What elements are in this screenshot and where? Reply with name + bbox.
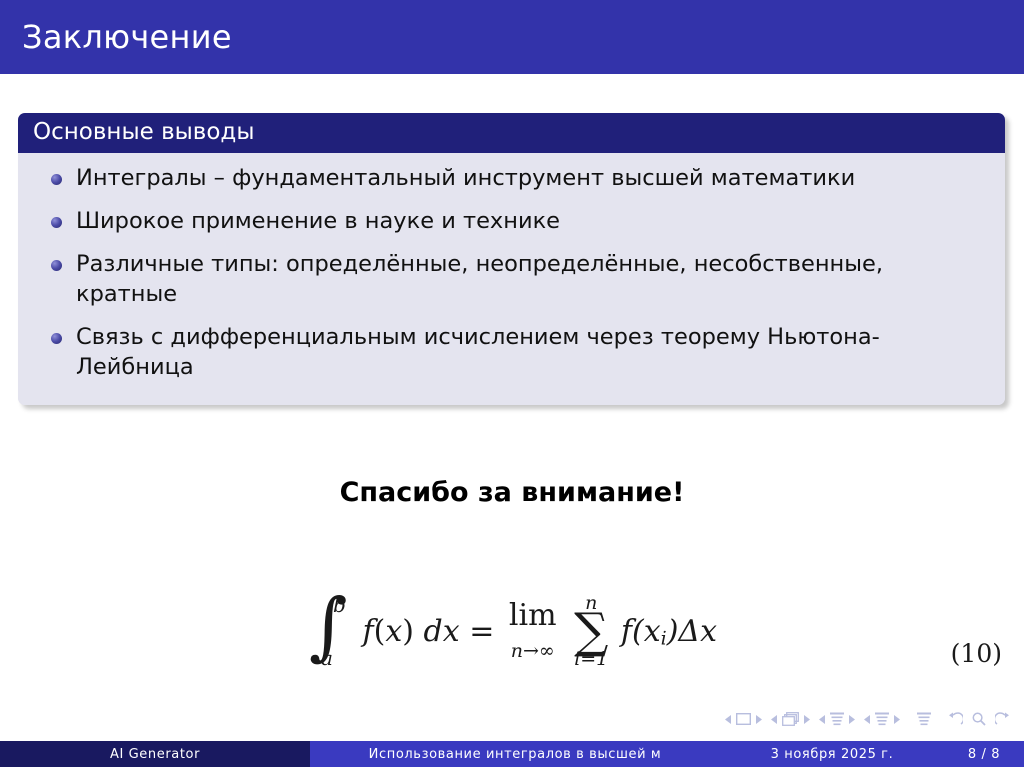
section-icon[interactable]	[875, 712, 889, 726]
limit-subscript: n→∞	[511, 640, 555, 662]
block-title: Основные выводы	[18, 113, 1005, 153]
list-item: Различные типы: определённые, неопределё…	[40, 250, 983, 310]
equation-number: (10)	[951, 639, 1002, 668]
slide-next-icon[interactable]	[755, 715, 762, 724]
bullet-dot-icon	[51, 217, 62, 228]
function-of-xi: f(x	[621, 614, 661, 649]
subsection-icon[interactable]	[830, 712, 844, 726]
variable-x: x	[385, 614, 402, 649]
list-item-label: Связь с дифференциальным исчислением чер…	[76, 324, 880, 380]
page-title: Заключение	[22, 21, 232, 53]
integral-upper-limit: b	[333, 593, 346, 617]
subsection-next-icon[interactable]	[848, 715, 855, 724]
bullet-list: Интегралы – фундаментальный инструмент в…	[40, 164, 983, 383]
limit-operator: lim n→∞	[509, 600, 557, 662]
summation-operator: n ∑ i=1	[574, 594, 608, 669]
frame-nav-group[interactable]	[771, 712, 810, 726]
document-icon[interactable]	[917, 712, 931, 726]
block-content: Интегралы – фундаментальный инструмент в…	[18, 153, 1005, 405]
list-item: Интегралы – фундаментальный инструмент в…	[40, 164, 983, 194]
list-item: Широкое применение в науке и технике	[40, 207, 983, 237]
integral-with-limits: ∫ b a	[307, 595, 353, 669]
slide-nav-group[interactable]	[725, 713, 762, 725]
integrand-f: f	[363, 614, 374, 649]
limit-word: lim	[509, 598, 557, 633]
footer-author: AI Generator	[0, 741, 310, 767]
search-icon[interactable]	[972, 712, 986, 726]
list-item-label: Интегралы – фундаментальный инструмент в…	[76, 165, 855, 191]
section-nav-group[interactable]	[864, 712, 900, 726]
frame-prev-icon[interactable]	[771, 715, 778, 724]
forward-icon[interactable]	[995, 712, 1010, 726]
frame-next-icon[interactable]	[803, 715, 810, 724]
thanks-text: Спасибо за внимание!	[0, 477, 1024, 508]
list-item-label: Широкое применение в науке и технике	[76, 208, 560, 234]
footer-subject: Использование интегралов в высшей м	[310, 741, 720, 767]
slide-content-area: Основные выводы Интегралы – фундаменталь…	[0, 74, 1024, 708]
footer-date: 3 ноября 2025 г.	[720, 741, 944, 767]
integral-lower-limit: a	[321, 646, 333, 670]
footer-page-number: 8 / 8	[944, 741, 1024, 767]
sum-sign: ∑	[574, 609, 608, 653]
frame-icon[interactable]	[782, 712, 799, 726]
slide-prev-icon[interactable]	[725, 715, 732, 724]
slide-title-bar: Заключение	[0, 0, 1024, 74]
back-icon[interactable]	[948, 712, 963, 726]
bullet-dot-icon	[51, 174, 62, 185]
bullet-dot-icon	[51, 333, 62, 344]
sum-lower-limit: i=1	[574, 650, 608, 669]
differential-dx: dx	[424, 614, 460, 649]
beamer-navigation-bar[interactable]	[725, 712, 1010, 726]
integral-equation: ∫ b a f(x) dx = lim n→∞ n ∑ i=1 f(xi)Δx	[0, 594, 1024, 669]
list-item-label: Различные типы: определённые, неопределё…	[76, 251, 883, 307]
subsection-prev-icon[interactable]	[819, 715, 826, 724]
bullet-dot-icon	[51, 260, 62, 271]
section-next-icon[interactable]	[893, 715, 900, 724]
subsection-nav-group[interactable]	[819, 712, 855, 726]
list-item: Связь с дифференциальным исчислением чер…	[40, 323, 983, 383]
section-prev-icon[interactable]	[864, 715, 871, 724]
delta-x-term: )Δx	[667, 614, 717, 649]
open-paren: (	[374, 614, 386, 649]
slide-icon[interactable]	[736, 713, 751, 725]
slide-footer: AI Generator Использование интегралов в …	[0, 741, 1024, 767]
close-paren: )	[402, 614, 414, 649]
content-block: Основные выводы Интегралы – фундаменталь…	[18, 113, 1005, 405]
equals-sign: =	[469, 614, 494, 649]
equation-row: ∫ b a f(x) dx = lim n→∞ n ∑ i=1 f(xi)Δx …	[0, 594, 1024, 704]
